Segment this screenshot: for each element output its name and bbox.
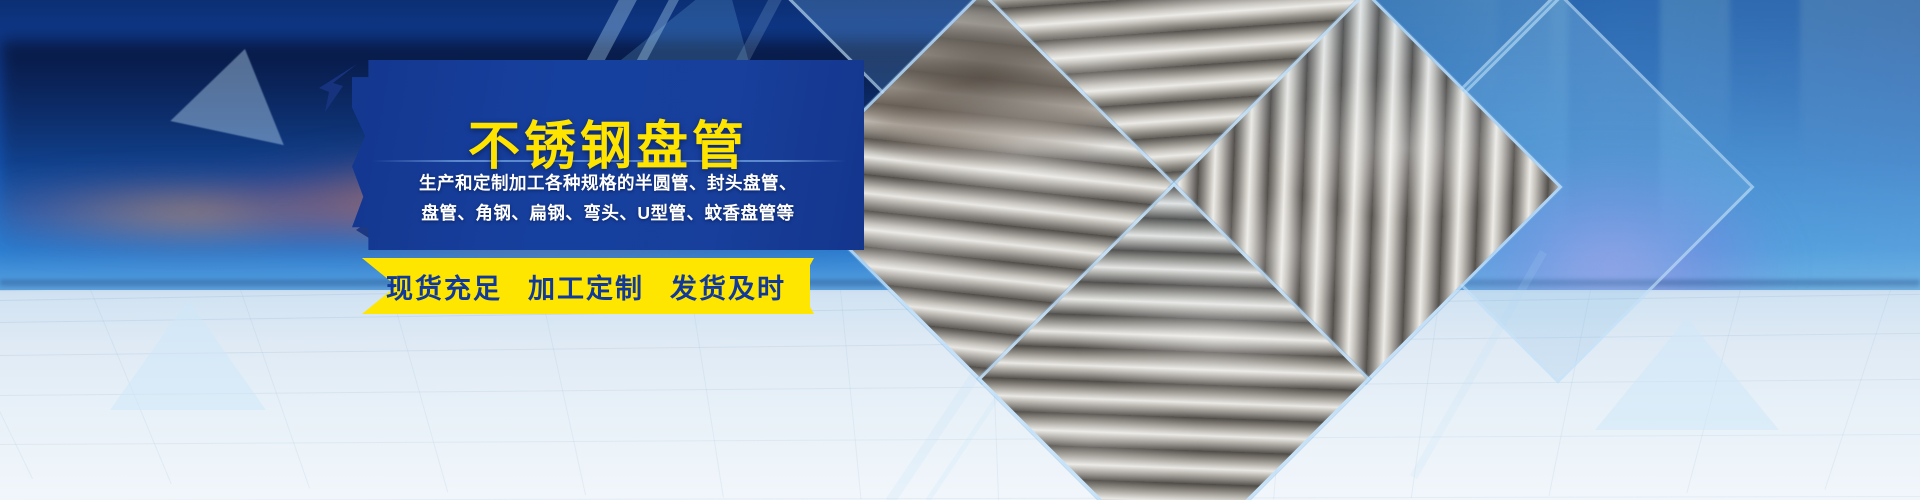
subtitle-line-1: 生产和定制加工各种规格的半圆管、封头盘管、: [352, 168, 864, 198]
highlight-item-2: 加工定制: [528, 267, 644, 306]
decorative-triangle: [1595, 318, 1779, 430]
product-hero-banner: 不锈钢盘管 生产和定制加工各种规格的半圆管、封头盘管、 盘管、角钢、扁钢、弯头、…: [0, 0, 1920, 500]
page-title: 不锈钢盘管: [352, 121, 864, 173]
product-photo-collage: [835, 0, 1395, 500]
decorative-triangle: [110, 300, 266, 410]
highlight-item-1: 现货充足: [386, 267, 502, 306]
subtitle-block: 生产和定制加工各种规格的半圆管、封头盘管、 盘管、角钢、扁钢、弯头、U型管、蚊香…: [352, 168, 864, 228]
highlight-bar-text: 现货充足 加工定制 发货及时: [362, 258, 810, 314]
subtitle-line-2: 盘管、角钢、扁钢、弯头、U型管、蚊香盘管等: [352, 198, 864, 228]
highlight-item-3: 发货及时: [670, 267, 786, 306]
tower-shape: [1730, 0, 1800, 160]
